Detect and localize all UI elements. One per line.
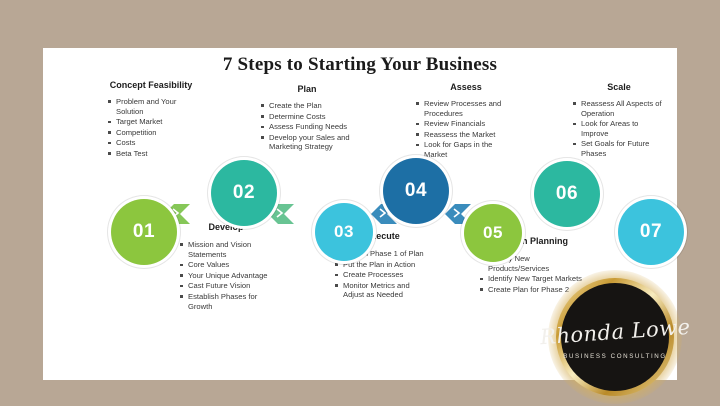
step-circle-04[interactable]: 04 xyxy=(383,158,449,224)
step-column-assess: Assess Review Processes and Procedures R… xyxy=(416,82,516,161)
list-item: Core Values xyxy=(180,260,272,270)
step-list-07: Reassess All Aspects of Operation Look f… xyxy=(573,99,665,159)
list-item: Create the Plan xyxy=(261,101,353,111)
step-circle-07[interactable]: 07 xyxy=(618,199,684,265)
list-item: Reassess the Market xyxy=(416,130,516,140)
step-heading-02: Develop xyxy=(180,222,272,233)
step-list-02: Mission and Vision Statements Core Value… xyxy=(180,240,272,311)
list-item: Review Financials xyxy=(416,119,516,129)
list-item: Look for Areas to Improve xyxy=(573,119,665,138)
step-list-05: Review Processes and Procedures Review F… xyxy=(416,99,516,160)
step-circle-03[interactable]: 03 xyxy=(315,203,373,261)
list-item: Put the Plan in Action xyxy=(335,260,430,270)
page-title: 7 Steps to Starting Your Business xyxy=(43,54,677,76)
list-item: Target Market xyxy=(108,117,194,127)
list-item: Costs xyxy=(108,138,194,148)
step-column-plan: Plan Create the Plan Determine Costs Ass… xyxy=(261,84,353,153)
list-item: Beta Test xyxy=(108,149,194,159)
logo-tagline: BUSINESS CONSULTING xyxy=(563,353,667,360)
step-list-03: Create the Plan Determine Costs Assess F… xyxy=(261,101,353,152)
list-item: Monitor Metrics and Adjust as Needed xyxy=(335,281,430,300)
step-column-scale: Scale Reassess All Aspects of Operation … xyxy=(573,82,665,160)
step-heading-01: Concept Feasibility xyxy=(108,80,194,91)
logo-badge: Rhonda Lowe BUSINESS CONSULTING xyxy=(556,278,674,396)
list-item: Establish Phases for Growth xyxy=(180,292,272,311)
logo-disc: Rhonda Lowe BUSINESS CONSULTING xyxy=(561,283,669,391)
step-column-develop: Develop Mission and Vision Statements Co… xyxy=(180,222,272,312)
list-item: Competition xyxy=(108,128,194,138)
list-item: Determine Costs xyxy=(261,112,353,122)
list-item: Cast Future Vision xyxy=(180,281,272,291)
list-item: Your Unique Advantage xyxy=(180,271,272,281)
step-heading-03: Plan xyxy=(261,84,353,95)
step-circle-06[interactable]: 06 xyxy=(534,161,600,227)
list-item: Mission and Vision Statements xyxy=(180,240,272,259)
list-item: Assess Funding Needs xyxy=(261,122,353,132)
slide-canvas: 7 Steps to Starting Your Business Concep… xyxy=(0,0,720,406)
step-circle-02[interactable]: 02 xyxy=(211,160,277,226)
list-item: Look for Gaps in the Market xyxy=(416,140,516,159)
list-item: Review Processes and Procedures xyxy=(416,99,516,118)
list-item: Develop your Sales and Marketing Strateg… xyxy=(261,133,353,152)
step-circle-01[interactable]: 01 xyxy=(111,199,177,265)
list-item: Problem and Your Solution xyxy=(108,97,194,116)
list-item: Create Processes xyxy=(335,270,430,280)
list-item: Set Goals for Future Phases xyxy=(573,139,665,158)
list-item: Reassess All Aspects of Operation xyxy=(573,99,665,118)
step-heading-07: Scale xyxy=(573,82,665,93)
step-heading-05: Assess xyxy=(416,82,516,93)
step-circle-05[interactable]: 05 xyxy=(464,204,522,262)
step-column-concept-feasibility: Concept Feasibility Problem and Your Sol… xyxy=(108,80,194,160)
step-list-01: Problem and Your Solution Target Market … xyxy=(108,97,194,159)
